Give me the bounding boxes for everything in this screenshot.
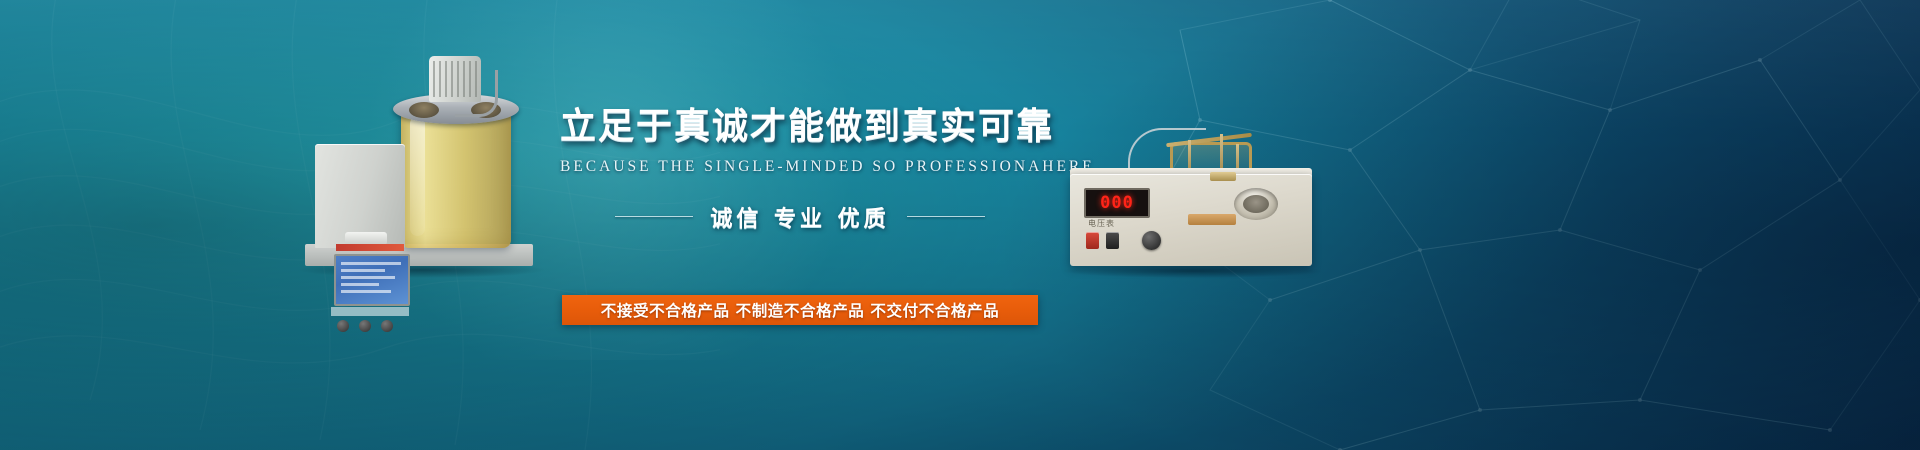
tagline-rule-right <box>907 216 985 217</box>
promo-banner: 立足于真诚才能做到真实可靠 BECAUSE THE SINGLE-MINDED … <box>0 0 1920 450</box>
brass-nut <box>1210 172 1236 181</box>
control-button-row <box>1086 232 1178 256</box>
console-knob-row <box>337 320 403 333</box>
viscosity-bath-instrument <box>305 48 545 280</box>
console-display <box>334 254 410 306</box>
console-nameplate <box>331 307 409 316</box>
tagline-text: 诚信 专业 优质 <box>710 201 889 233</box>
quality-slogan-strip: 不接受不合格产品 不制造不合格产品 不交付不合格产品 <box>562 295 1038 325</box>
bath-port-left <box>409 102 439 118</box>
heat-button[interactable] <box>1106 232 1119 249</box>
tagline-row: 诚信 专业 优质 <box>560 201 1040 233</box>
quality-slogan-text: 不接受不合格产品 不制造不合格产品 不交付不合格产品 <box>601 299 999 321</box>
oil-bath-tank <box>401 108 511 248</box>
banner-copy-block: 立足于真诚才能做到真实可靠 BECAUSE THE SINGLE-MINDED … <box>560 108 1040 233</box>
sample-cup <box>1234 188 1278 220</box>
console-red-strip <box>336 244 404 251</box>
motor-cap <box>429 56 481 102</box>
power-button[interactable] <box>1086 232 1099 249</box>
control-console <box>315 144 405 248</box>
banner-subtitle: BECAUSE THE SINGLE-MINDED SO PROFESSIONA… <box>560 158 1040 176</box>
page-title: 立足于真诚才能做到真实可靠 <box>560 108 1040 147</box>
instrument-shadow <box>1064 264 1322 278</box>
flash-point-tester-instrument: 000 电压表 <box>1070 128 1320 278</box>
led-display: 000 <box>1084 188 1150 218</box>
tagline-rule-left <box>615 216 693 217</box>
led-display-value: 000 <box>1100 193 1134 213</box>
copper-tray <box>1188 214 1236 225</box>
voltmeter-label: 电压表 <box>1088 218 1115 229</box>
voltage-knob[interactable] <box>1142 231 1161 250</box>
